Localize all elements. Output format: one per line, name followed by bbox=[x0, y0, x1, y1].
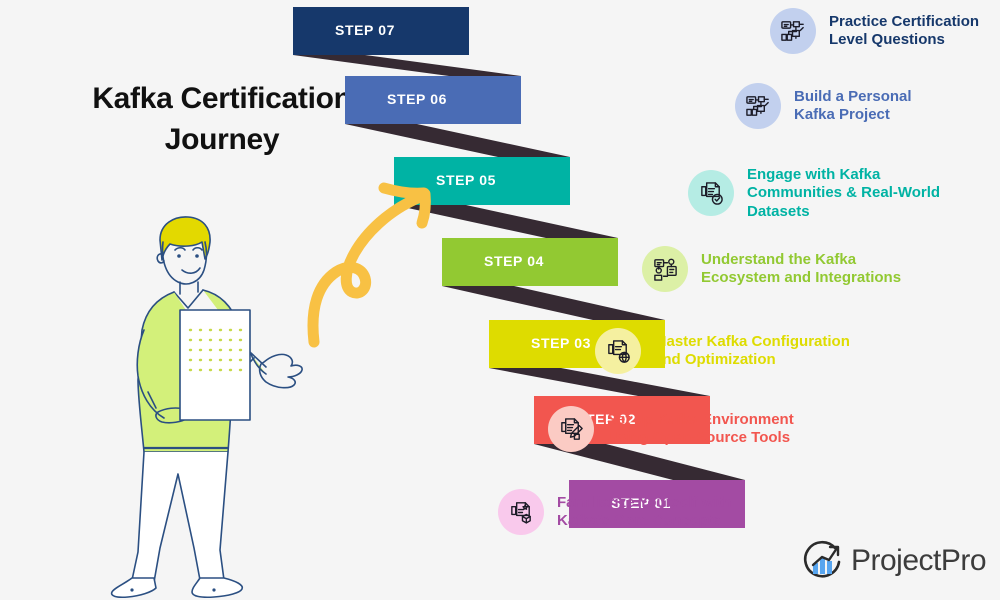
step-title-step-01: Familiarize Yourself with Kafka’s Core C… bbox=[557, 494, 732, 531]
infographic-canvas: Kafka Certification Journey STEP 01STEP … bbox=[0, 0, 1000, 600]
staircase-connector bbox=[345, 124, 570, 157]
step-label-step-03: STEP 03 bbox=[531, 335, 591, 351]
org-chart-icon bbox=[735, 83, 781, 129]
step-title-step-03: Master Kafka Configuration and Optimizat… bbox=[654, 333, 850, 370]
org-chart-icon bbox=[770, 8, 816, 54]
staircase-connector bbox=[293, 55, 521, 76]
step-description-step-01[interactable]: Familiarize Yourself with Kafka’s Core C… bbox=[498, 489, 732, 535]
document-star-package-icon bbox=[498, 489, 544, 535]
step-title-step-06: Build a Personal Kafka Project bbox=[794, 88, 912, 125]
document-pencil-icon bbox=[548, 406, 594, 452]
projectpro-chart-arrow-icon bbox=[800, 539, 844, 583]
step-title-step-04: Understand the Kafka Ecosystem and Integ… bbox=[701, 251, 901, 288]
curved-upward-arrow-icon bbox=[292, 168, 452, 363]
step-label-step-07: STEP 07 bbox=[335, 22, 395, 38]
logo-wordmark: ProjectPro bbox=[851, 544, 986, 578]
document-globe-icon bbox=[595, 328, 641, 374]
step-title-step-05: Engage with Kafka Communities & Real-Wor… bbox=[747, 166, 940, 221]
step-description-step-02[interactable]: Set up Kafka Environment Using Open-Sour… bbox=[548, 406, 794, 452]
person-holding-clipboard-illustration bbox=[108, 212, 308, 600]
step-description-step-04[interactable]: Understand the Kafka Ecosystem and Integ… bbox=[642, 246, 901, 292]
step-label-step-06: STEP 06 bbox=[387, 91, 447, 107]
network-nodes-icon bbox=[642, 246, 688, 292]
document-check-icon bbox=[688, 170, 734, 216]
step-description-step-06[interactable]: Build a Personal Kafka Project bbox=[735, 83, 912, 129]
step-description-step-07[interactable]: Practice Certification Level Questions bbox=[770, 8, 979, 54]
step-label-step-04: STEP 04 bbox=[484, 253, 544, 269]
step-title-step-07: Practice Certification Level Questions bbox=[829, 13, 979, 50]
step-description-step-03[interactable]: Master Kafka Configuration and Optimizat… bbox=[595, 328, 850, 374]
staircase-connector bbox=[442, 286, 665, 320]
projectpro-logo: ProjectPro bbox=[800, 536, 990, 586]
step-title-step-02: Set up Kafka Environment Using Open-Sour… bbox=[607, 411, 794, 448]
step-description-step-05[interactable]: Engage with Kafka Communities & Real-Wor… bbox=[688, 166, 940, 221]
